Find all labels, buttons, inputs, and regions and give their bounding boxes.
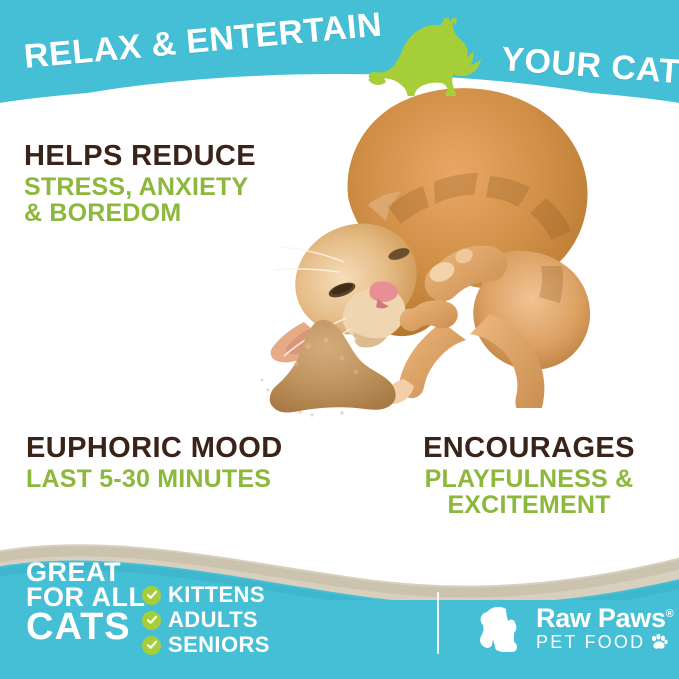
benefit-subline: STRESS, ANXIETY [24,174,256,201]
paw-print-icon [650,634,668,650]
benefit-subline: PLAYFULNESS & [398,466,660,493]
brand-name-text: Raw Paws [536,603,666,633]
registered-mark: ® [666,608,674,620]
benefit-title: EUPHORIC MOOD [26,434,283,464]
age-group-list: KITTENS ADULTS SENIORS [142,584,270,656]
footer-band: GREAT FOR ALL CATS KITTENS ADULTS [0,548,679,679]
footer-headline-line: CATS [26,610,145,645]
check-circle-icon [142,586,161,605]
age-group-label: ADULTS [168,609,258,631]
benefit-helps-reduce: HELPS REDUCE STRESS, ANXIETY & BOREDOM [24,142,256,227]
dog-and-cat-silhouette-icon [476,604,528,652]
check-circle-icon [142,636,161,655]
age-group-label: SENIORS [168,634,270,656]
age-group-item-kittens: KITTENS [142,584,270,606]
benefit-subline: & BOREDOM [24,200,256,227]
brand-name: Raw Paws® [536,605,673,632]
brand-logo-text: Raw Paws® PET FOOD [536,605,673,651]
age-group-label: KITTENS [168,584,265,606]
brand-tagline-row: PET FOOD [536,633,673,651]
age-group-item-seniors: SENIORS [142,634,270,656]
cat-silhouette-icon [365,18,500,96]
footer-headline: GREAT FOR ALL CATS [26,560,145,646]
brand-tagline: PET FOOD [536,633,645,651]
brand-logo: Raw Paws® PET FOOD [476,604,673,652]
benefit-euphoric-mood: EUPHORIC MOOD LAST 5-30 MINUTES [26,434,283,492]
header-left-text: RELAX & ENTERTAIN [22,6,383,77]
age-group-item-adults: ADULTS [142,609,270,631]
benefit-subline: LAST 5-30 MINUTES [26,466,283,493]
vertical-divider [437,592,439,654]
header-band: RELAX & ENTERTAIN YOUR CAT [0,0,679,92]
benefit-title: HELPS REDUCE [24,142,256,172]
check-circle-icon [142,611,161,630]
benefit-title: ENCOURAGES [398,434,660,464]
header-right-text: YOUR CAT [500,40,679,92]
infographic-poster: RELAX & ENTERTAIN YOUR CAT [0,0,679,679]
catnip-powder-pile-photo [246,312,406,420]
